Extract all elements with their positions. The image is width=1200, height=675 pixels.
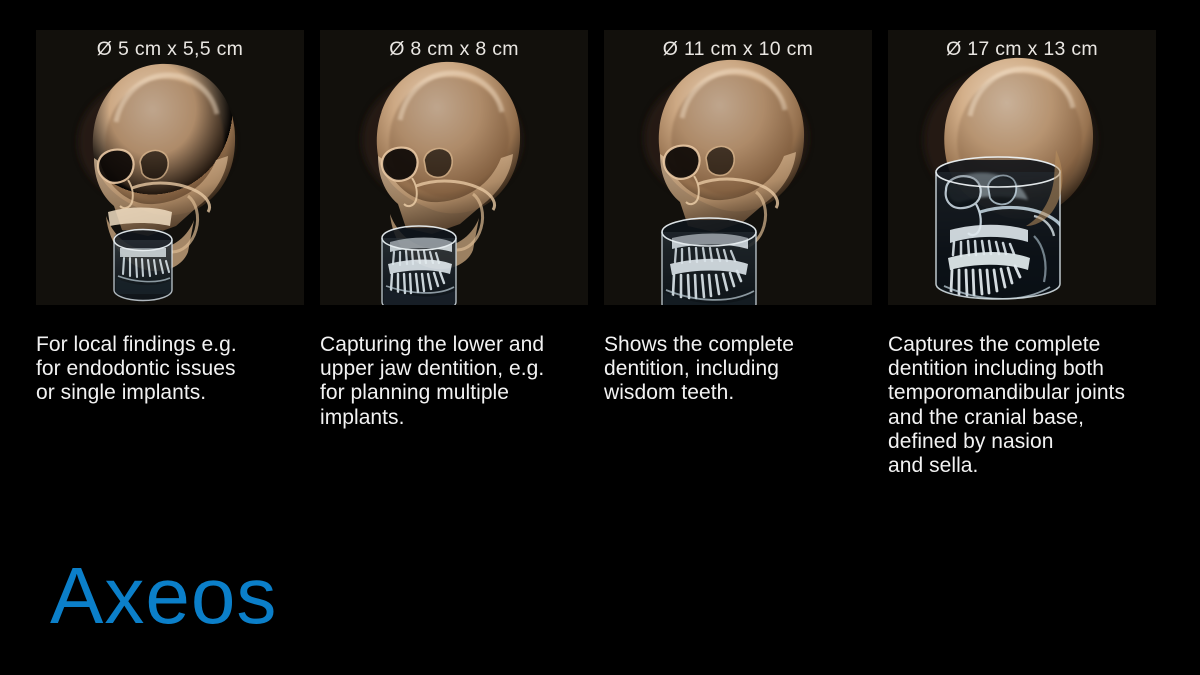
skull-illustration-2 [320, 30, 588, 305]
fov-panel-3[interactable]: Ø 11 cm x 10 cm [604, 30, 872, 305]
fov-caption-4: Captures the complete dentition includin… [888, 333, 1176, 478]
fov-panel-row: Ø 5 cm x 5,5 cm [36, 30, 1166, 305]
caption-row: For local findings e.g. for endodontic i… [36, 333, 1176, 478]
skull-illustration-4 [888, 30, 1156, 305]
fov-panel-4[interactable]: Ø 17 cm x 13 cm [888, 30, 1156, 305]
slide-root: Ø 5 cm x 5,5 cm [0, 0, 1200, 675]
fov-panel-1-header: Ø 5 cm x 5,5 cm [36, 38, 304, 61]
fov-panel-2[interactable]: Ø 8 cm x 8 cm [320, 30, 588, 305]
fov-caption-1: For local findings e.g. for endodontic i… [36, 333, 304, 406]
skull-illustration-1 [36, 30, 304, 305]
fov-caption-3: Shows the complete dentition, including … [604, 333, 872, 406]
fov-panel-4-header: Ø 17 cm x 13 cm [888, 38, 1156, 61]
fov-panel-2-header: Ø 8 cm x 8 cm [320, 38, 588, 61]
fov-panel-3-header: Ø 11 cm x 10 cm [604, 38, 872, 61]
fov-caption-2: Capturing the lower and upper jaw dentit… [320, 333, 588, 430]
fov-panel-1[interactable]: Ø 5 cm x 5,5 cm [36, 30, 304, 305]
axeos-logo: Axeos [50, 556, 277, 636]
skull-illustration-3 [604, 30, 872, 305]
